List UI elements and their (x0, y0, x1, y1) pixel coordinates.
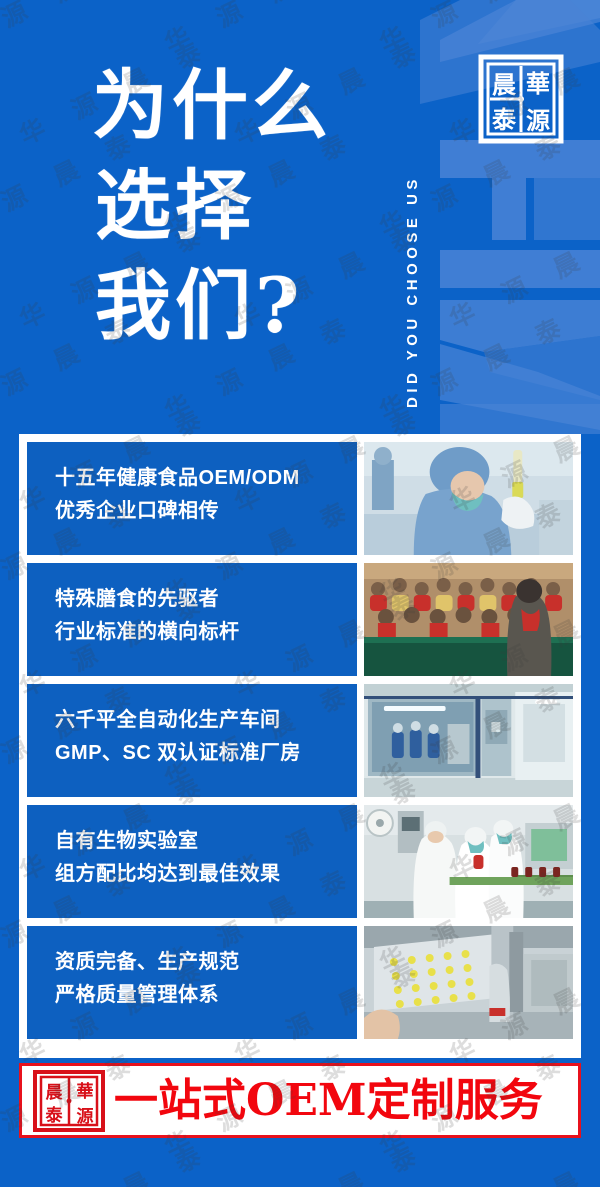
feature-card-list: 十五年健康食品OEM/ODM 优秀企业口碑相传 (27, 442, 573, 1039)
svg-text:泰: 泰 (46, 1105, 64, 1126)
feature-line-1: 资质完备、生产规范 (55, 946, 357, 979)
poster-root: 为什么 选择 我们? DID YOU CHOOSE US 晨 華 泰 源 (0, 0, 600, 1187)
feature-card[interactable]: 资质完备、生产规范 严格质量管理体系 (27, 926, 573, 1039)
poster-header: 为什么 选择 我们? DID YOU CHOOSE US 晨 華 泰 源 (0, 0, 600, 432)
bottom-cta-banner[interactable]: 晨 華 泰 源 一站式OEM定制服务 (19, 1063, 581, 1138)
feature-card-text: 特殊膳食的先驱者 行业标准的横向标杆 (27, 563, 357, 676)
feature-line-2: 行业标准的横向标杆 (55, 616, 357, 649)
svg-text:源: 源 (526, 106, 550, 135)
feature-line-2: 组方配比均达到最佳效果 (55, 858, 357, 891)
feature-line-2: GMP、SC 双认证标准厂房 (55, 737, 357, 770)
svg-text:源: 源 (77, 1106, 94, 1127)
feature-line-2: 优秀企业口碑相传 (55, 495, 357, 528)
watermark-text: 华 源 晨 泰 (228, 1132, 433, 1187)
feature-line-1: 自有生物实验室 (55, 825, 357, 858)
feature-line-1: 十五年健康食品OEM/ODM (55, 462, 357, 495)
feature-card-text: 十五年健康食品OEM/ODM 优秀企业口碑相传 (27, 442, 357, 555)
feature-card-text: 六千平全自动化生产车间 GMP、SC 双认证标准厂房 (27, 684, 357, 797)
feature-photo-production-inspection (364, 805, 573, 918)
title-line-2: 选择 (95, 156, 332, 256)
brand-seal-red: 晨 華 泰 源 (32, 1070, 106, 1132)
feature-card[interactable]: 十五年健康食品OEM/ODM 优秀企业口碑相传 (27, 442, 573, 555)
feature-photo-lab-technician (364, 442, 573, 555)
brand-seal-white: 晨 華 泰 源 (478, 52, 564, 146)
feature-card[interactable]: 六千平全自动化生产车间 GMP、SC 双认证标准厂房 (27, 684, 573, 797)
svg-text:華: 華 (526, 69, 550, 98)
feature-card[interactable]: 特殊膳食的先驱者 行业标准的横向标杆 (27, 563, 573, 676)
svg-text:泰: 泰 (492, 105, 517, 134)
feature-card-text: 自有生物实验室 组方配比均达到最佳效果 (27, 805, 357, 918)
svg-text:華: 華 (77, 1082, 94, 1102)
feature-line-1: 特殊膳食的先驱者 (55, 583, 357, 616)
feature-photo-conference-audience (364, 563, 573, 676)
feature-card[interactable]: 自有生物实验室 组方配比均达到最佳效果 (27, 805, 573, 918)
title-line-1: 为什么 (92, 56, 332, 156)
title-line-3: 我们? (95, 256, 332, 356)
feature-photo-blister-packaging (364, 926, 573, 1039)
feature-card-text: 资质完备、生产规范 严格质量管理体系 (27, 926, 357, 1039)
watermark-text: 华 源 晨 泰 (13, 1132, 218, 1187)
feature-line-2: 严格质量管理体系 (55, 979, 357, 1012)
svg-text:晨: 晨 (46, 1083, 64, 1103)
features-panel: 十五年健康食品OEM/ODM 优秀企业口碑相传 (19, 434, 581, 1058)
feature-photo-cleanroom-corridor (364, 684, 573, 797)
page-title: 为什么 选择 我们? (92, 56, 332, 356)
vertical-english-tagline: DID YOU CHOOSE US (404, 12, 430, 408)
watermark-text: 华 源 晨 泰 (443, 1132, 600, 1187)
cta-banner-text: 一站式OEM定制服务 (114, 1078, 543, 1124)
svg-text:晨: 晨 (492, 70, 517, 99)
feature-line-1: 六千平全自动化生产车间 (55, 704, 357, 737)
